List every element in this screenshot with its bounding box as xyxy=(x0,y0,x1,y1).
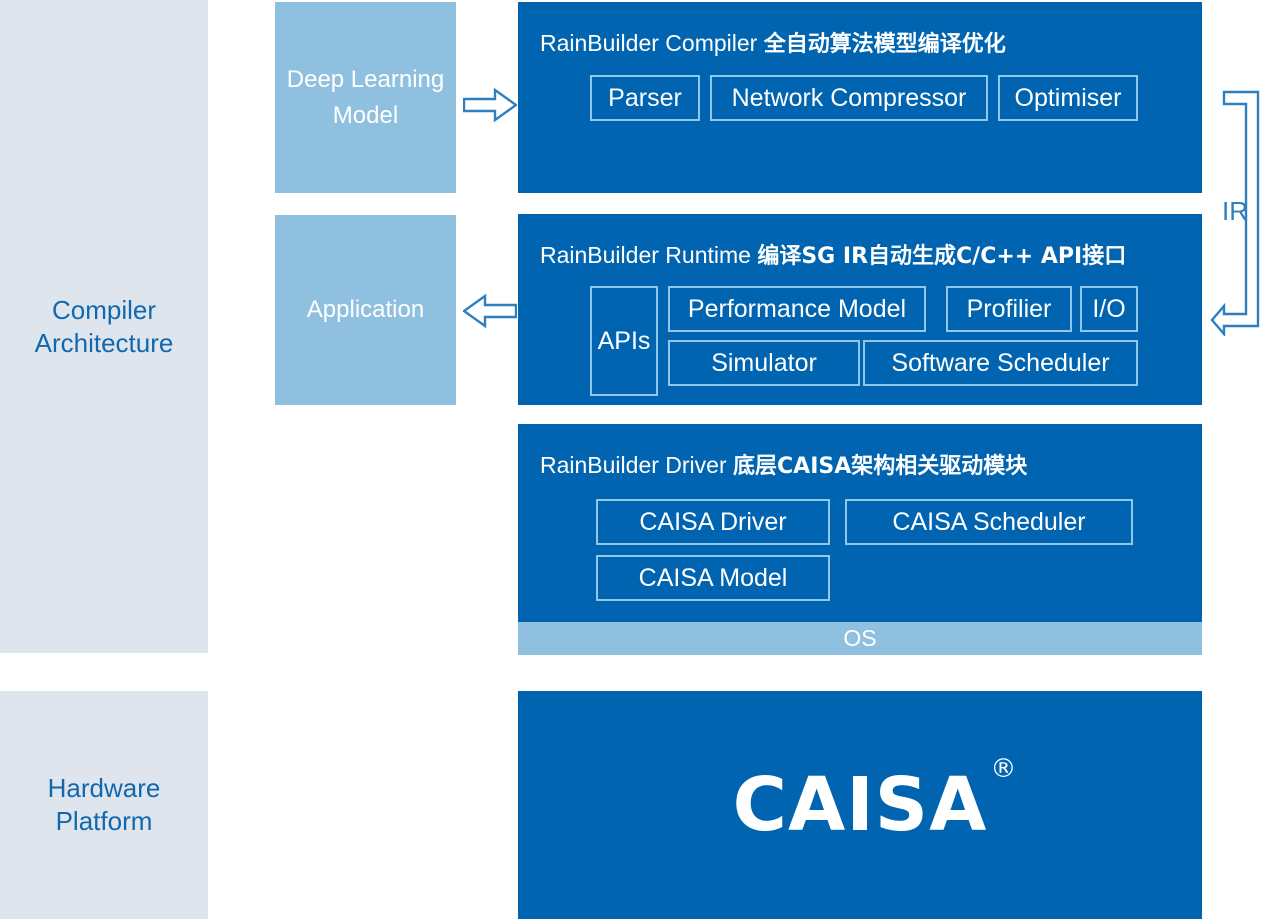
module-simulator[interactable]: Simulator xyxy=(668,340,860,386)
panel-rainbuilder-driver: RainBuilder Driver 底层CAISA架构相关驱动模块 CAISA… xyxy=(518,424,1202,622)
application-box: Application xyxy=(275,215,456,405)
panel-title: RainBuilder Runtime 编译SG IR自动生成C/C++ API… xyxy=(540,240,1126,272)
sidebar-item-compiler-architecture: Compiler Architecture xyxy=(0,0,208,653)
module-caisa-driver[interactable]: CAISA Driver xyxy=(596,499,830,545)
arrow-right-icon xyxy=(463,88,517,122)
os-strip: OS xyxy=(518,622,1202,655)
panel-title: RainBuilder Driver 底层CAISA架构相关驱动模块 xyxy=(540,450,1027,482)
panel-title-cn: 底层CAISA架构相关驱动模块 xyxy=(733,454,1027,479)
module-profilier[interactable]: Profilier xyxy=(946,286,1072,332)
panel-caisa-hardware: CAISA ® xyxy=(518,691,1202,919)
registered-trademark-icon: ® xyxy=(990,756,1017,782)
deep-learning-model-box: Deep Learning Model xyxy=(275,2,456,193)
module-parser[interactable]: Parser xyxy=(590,75,700,121)
module-optimiser[interactable]: Optimiser xyxy=(998,75,1138,121)
module-network-compressor[interactable]: Network Compressor xyxy=(710,75,988,121)
panel-title: RainBuilder Compiler 全自动算法模型编译优化 xyxy=(540,28,1006,60)
application-label: Application xyxy=(307,292,424,328)
panel-title-en: RainBuilder Compiler xyxy=(540,30,764,56)
panel-rainbuilder-runtime: RainBuilder Runtime 编译SG IR自动生成C/C++ API… xyxy=(518,214,1202,405)
caisa-wordmark-text: CAISA xyxy=(733,762,988,848)
sidebar-item-hardware-platform: Hardware Platform xyxy=(0,691,208,919)
module-apis[interactable]: APIs xyxy=(590,286,658,396)
module-performance-model[interactable]: Performance Model xyxy=(668,286,926,332)
caisa-wordmark: CAISA ® xyxy=(733,768,988,842)
ir-label: IR xyxy=(1222,198,1248,224)
module-software-scheduler[interactable]: Software Scheduler xyxy=(863,340,1138,386)
panel-rainbuilder-compiler: RainBuilder Compiler 全自动算法模型编译优化 Parser … xyxy=(518,2,1202,193)
arrow-left-icon xyxy=(463,294,517,328)
module-caisa-scheduler[interactable]: CAISA Scheduler xyxy=(845,499,1133,545)
sidebar-item-label: Compiler Architecture xyxy=(35,294,174,360)
caisa-logo: CAISA ® xyxy=(518,691,1202,919)
panel-title-cn: 全自动算法模型编译优化 xyxy=(764,32,1006,57)
sidebar-item-label: Hardware Platform xyxy=(48,772,161,838)
panel-title-en: RainBuilder Runtime xyxy=(540,242,757,268)
module-caisa-model[interactable]: CAISA Model xyxy=(596,555,830,601)
panel-title-cn: 编译SG IR自动生成C/C++ API接口 xyxy=(757,244,1126,269)
panel-title-en: RainBuilder Driver xyxy=(540,452,733,478)
deep-learning-model-label: Deep Learning Model xyxy=(287,62,444,134)
module-io[interactable]: I/O xyxy=(1080,286,1138,332)
